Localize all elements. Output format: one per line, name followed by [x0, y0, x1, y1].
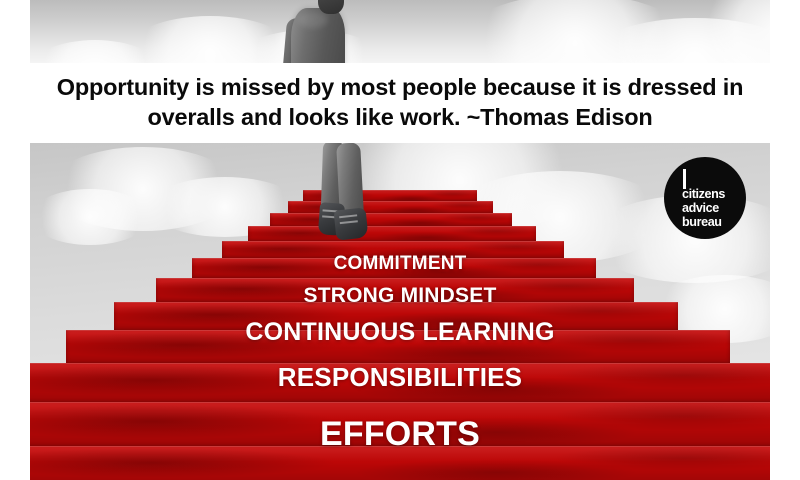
stair-step: [30, 363, 770, 404]
top-hero-image: [30, 0, 770, 63]
figure-head: [318, 0, 344, 14]
stair-step: [192, 258, 596, 280]
boot-lace: [339, 214, 357, 217]
cloud-shape: [690, 0, 770, 63]
cloud-shape: [590, 18, 770, 63]
cloud-shape: [460, 0, 690, 63]
logo-bar-icon: [683, 169, 686, 189]
logo-line-3: bureau: [682, 215, 740, 229]
cloud-shape: [125, 16, 295, 63]
figure-boot-front: [334, 207, 369, 240]
main-hero-image: citizens advice bureau COMMITMENT STRONG…: [30, 143, 770, 480]
logo-line-1: citizens: [682, 187, 740, 201]
stair-step: [114, 302, 678, 332]
quote-band: Opportunity is missed by most people bec…: [0, 63, 800, 143]
quote-text: Opportunity is missed by most people bec…: [35, 73, 765, 132]
logo-text: citizens advice bureau: [682, 187, 740, 229]
stair-step: [156, 278, 634, 304]
cloud-shape: [30, 40, 160, 63]
cloud-shape: [48, 147, 238, 231]
citizens-advice-bureau-logo[interactable]: citizens advice bureau: [664, 157, 746, 239]
stair-step: [30, 402, 770, 448]
figure-shoulder-highlight: [298, 12, 328, 28]
cloud-shape: [30, 189, 150, 245]
logo-line-2: advice: [682, 201, 740, 215]
stair-step: [30, 446, 770, 480]
stair-step: [66, 330, 730, 365]
boot-lace: [340, 220, 358, 223]
